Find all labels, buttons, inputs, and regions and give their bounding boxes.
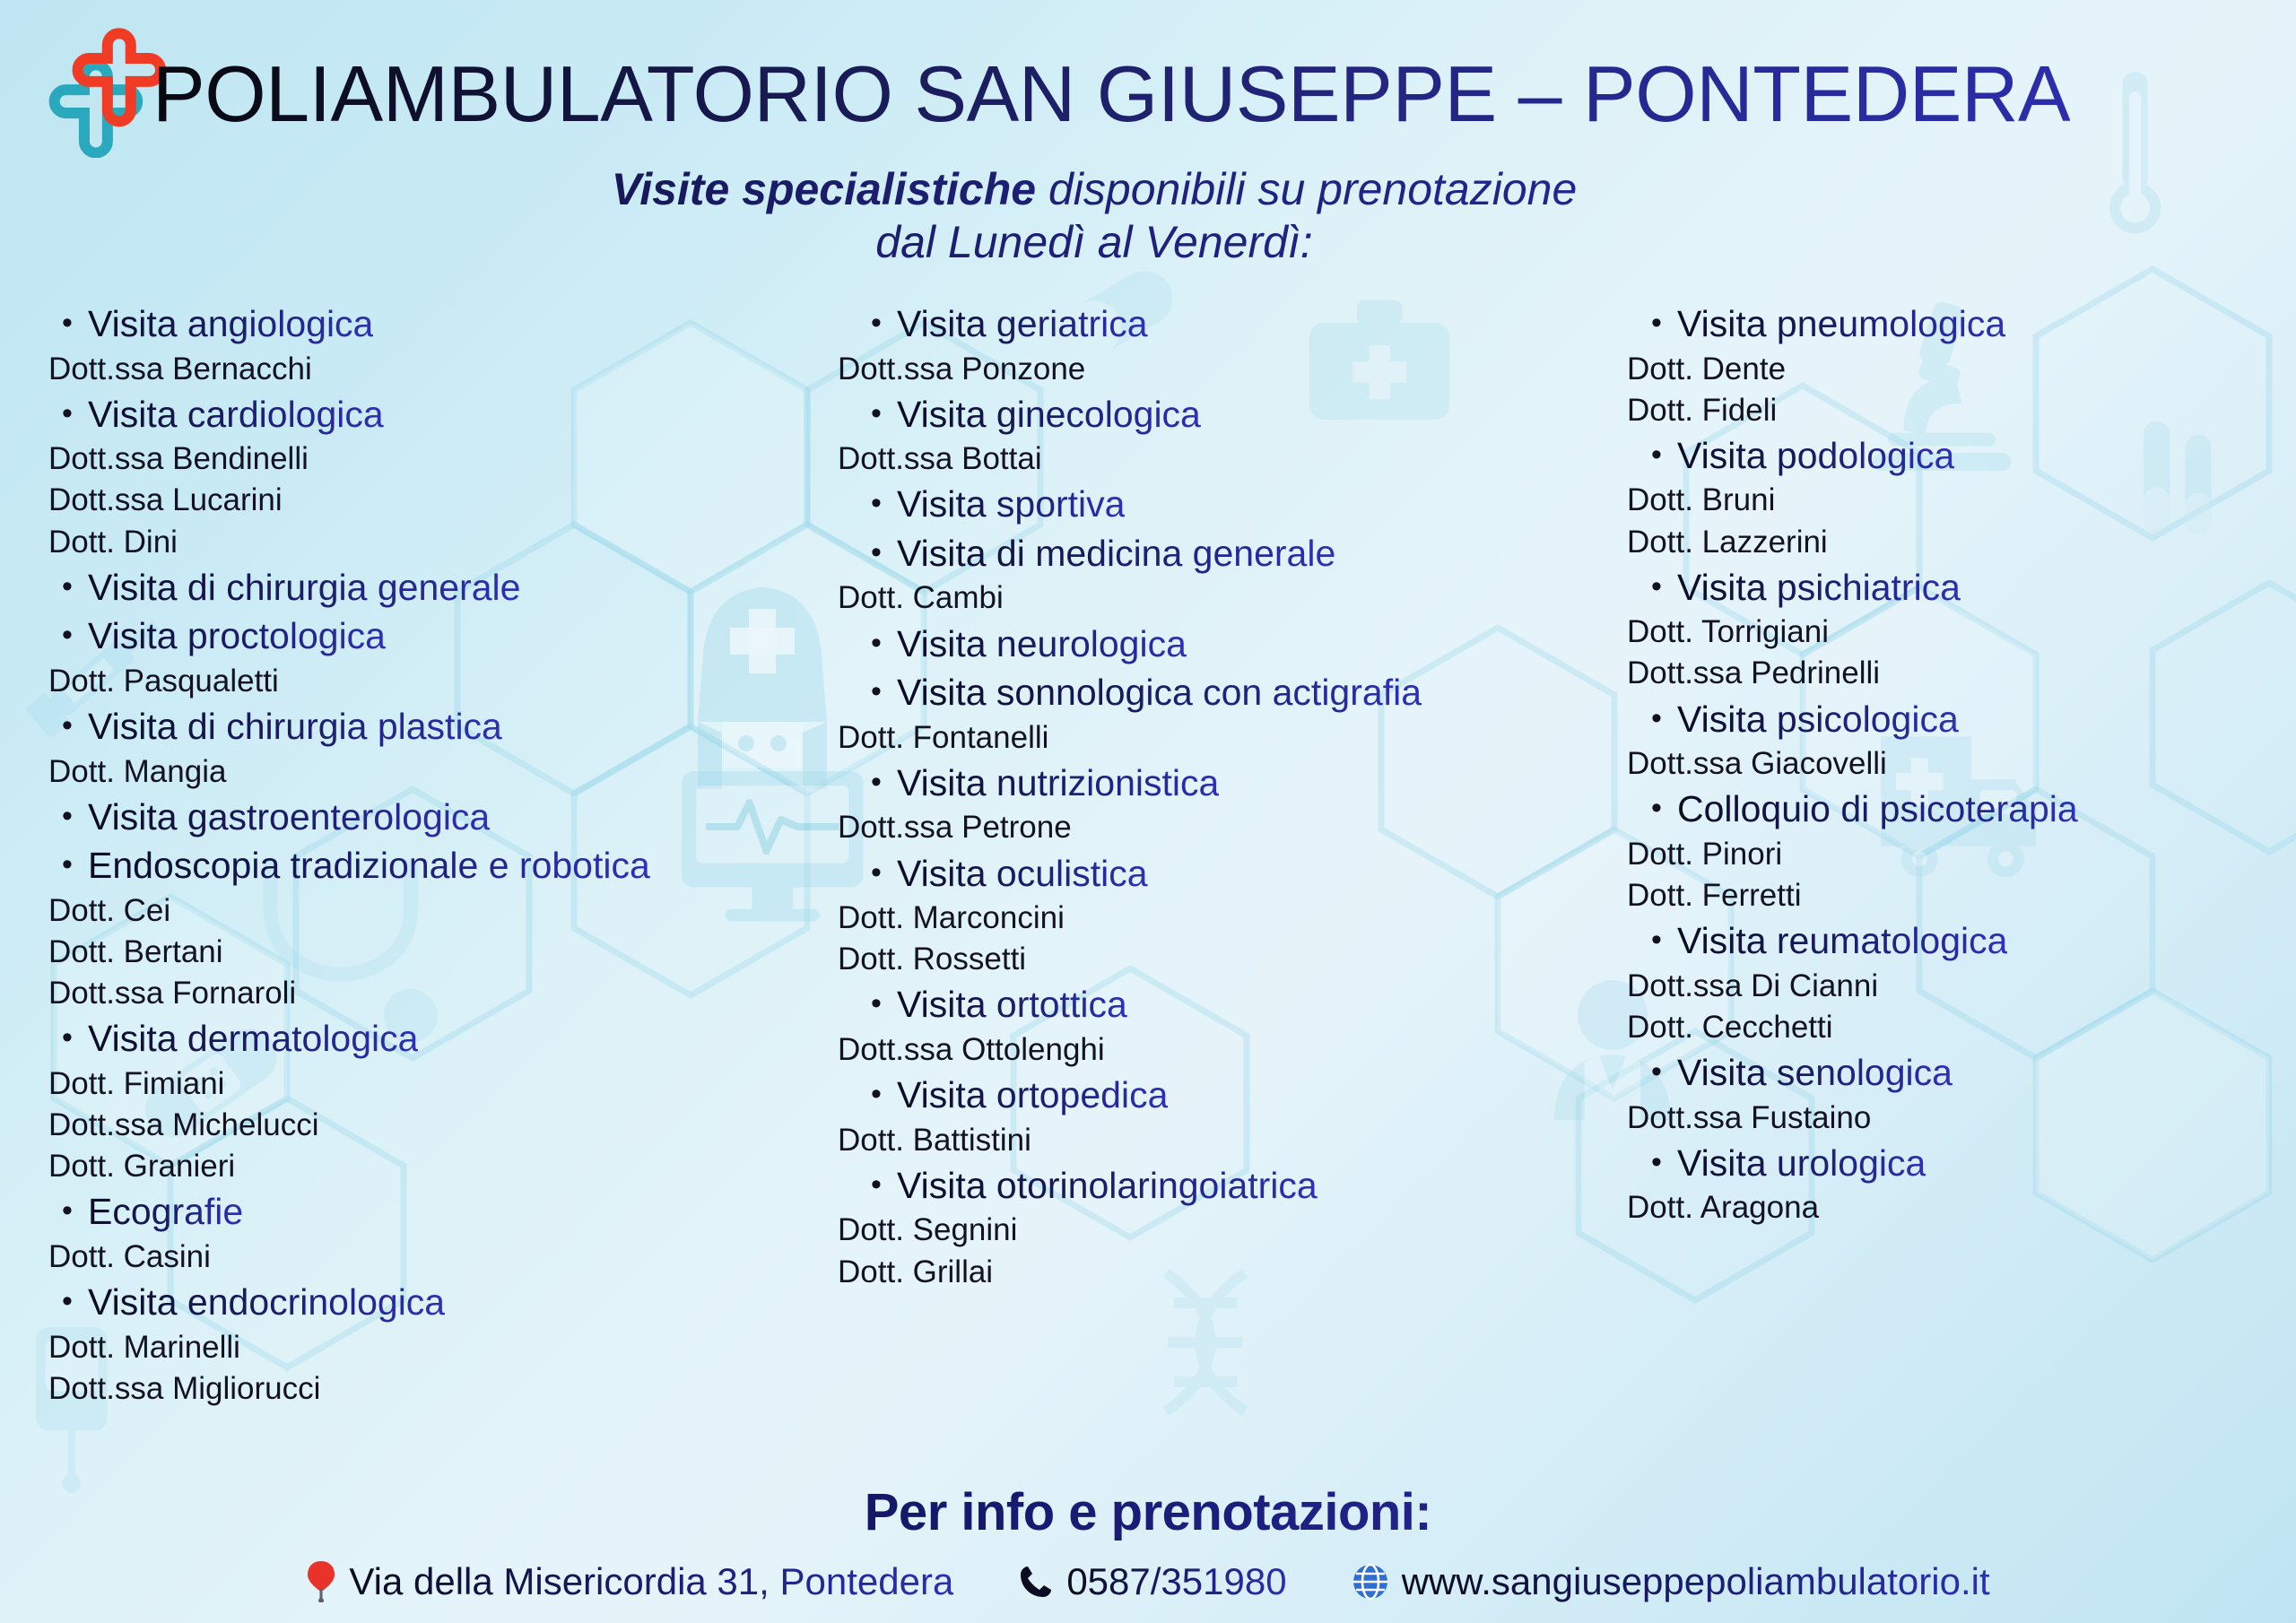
poster-header: POLIAMBULATORIO SAN GIUSEPPE – PONTEDERA bbox=[0, 0, 2296, 158]
doctor-name: Dott. Cambi bbox=[836, 577, 1625, 619]
service-item[interactable]: Visita angiologica bbox=[47, 299, 836, 349]
doctor-name: Dott. Fimiani bbox=[47, 1063, 836, 1105]
location-pin-icon bbox=[306, 1561, 336, 1602]
doctor-name: Dott.ssa Michelucci bbox=[47, 1105, 836, 1146]
doctor-name: Dott.ssa Bendinelli bbox=[47, 438, 836, 480]
bullet-icon bbox=[856, 984, 897, 1024]
service-label: Visita nutrizionistica bbox=[897, 759, 1219, 808]
doctor-name: Dott. Granieri bbox=[47, 1146, 836, 1187]
service-item[interactable]: Visita urologica bbox=[1625, 1139, 2253, 1188]
bullet-icon bbox=[856, 1165, 897, 1205]
doctor-name: Dott.ssa Giacovelli bbox=[1625, 743, 2253, 785]
service-item[interactable]: Ecografie bbox=[47, 1187, 836, 1237]
service-item[interactable]: Visita dermatologica bbox=[47, 1014, 836, 1063]
doctor-name: Dott.ssa Ottolenghi bbox=[836, 1029, 1625, 1071]
service-item[interactable]: Visita di chirurgia generale bbox=[47, 563, 836, 612]
service-label: Visita urologica bbox=[1677, 1139, 1926, 1188]
doctor-name: Dott. Rossetti bbox=[836, 939, 1625, 980]
doctor-name: Dott.ssa Bernacchi bbox=[47, 349, 836, 390]
doctor-name: Dott. Segnini bbox=[836, 1210, 1625, 1251]
doctor-name: Dott. Marconcini bbox=[836, 898, 1625, 939]
bullet-icon bbox=[856, 533, 897, 573]
service-item[interactable]: Visita ortopedica bbox=[836, 1071, 1625, 1120]
doctor-name: Dott.ssa Ponzone bbox=[836, 349, 1625, 390]
bullet-icon bbox=[856, 853, 897, 893]
bullet-icon bbox=[47, 1191, 88, 1231]
doctor-name: Dott. Aragona bbox=[1625, 1187, 2253, 1228]
doctor-name: Dott. Grillai bbox=[836, 1252, 1625, 1293]
service-label: Colloquio di psicoterapia bbox=[1677, 785, 2078, 834]
service-label: Visita ortottica bbox=[897, 980, 1127, 1029]
doctor-name: Dott.ssa Pedrinelli bbox=[1625, 653, 2253, 694]
contact-text: Via della Misericordia 31, Pontedera bbox=[349, 1560, 953, 1603]
doctor-name: Dott. Dini bbox=[47, 522, 836, 563]
service-item[interactable]: Visita gastroenterologica bbox=[47, 793, 836, 842]
bullet-icon bbox=[47, 845, 88, 885]
service-item[interactable]: Visita oculistica bbox=[836, 849, 1625, 898]
service-item[interactable]: Visita di chirurgia plastica bbox=[47, 702, 836, 751]
doctor-name: Dott. Cei bbox=[47, 890, 836, 932]
subtitle-emphasis: Visite specialistiche bbox=[612, 164, 1036, 214]
page-title: POLIAMBULATORIO SAN GIUSEPPE – PONTEDERA bbox=[152, 55, 2070, 134]
doctor-name: Dott. Lazzerini bbox=[1625, 522, 2253, 563]
service-label: Visita endocrinologica bbox=[88, 1278, 445, 1327]
doctor-name: Dott. Casini bbox=[47, 1237, 836, 1278]
bullet-icon bbox=[1636, 1052, 1677, 1092]
service-item[interactable]: Visita ortottica bbox=[836, 980, 1625, 1029]
doctor-name: Dott. Battistini bbox=[836, 1120, 1625, 1161]
doctor-name: Dott. Pinori bbox=[1625, 834, 2253, 875]
phone-icon bbox=[1018, 1564, 1054, 1600]
bullet-icon bbox=[856, 672, 897, 712]
doctor-name: Dott. Fideli bbox=[1625, 390, 2253, 431]
service-item[interactable]: Visita di medicina generale bbox=[836, 529, 1625, 578]
bullet-icon bbox=[856, 1074, 897, 1115]
bullet-icon bbox=[856, 623, 897, 664]
bullet-icon bbox=[47, 796, 88, 837]
service-label: Visita senologica bbox=[1677, 1048, 1952, 1098]
doctor-name: Dott.ssa Migliorucci bbox=[47, 1368, 836, 1410]
doctor-name: Dott. Bruni bbox=[1625, 480, 2253, 521]
service-item[interactable]: Visita psichiatrica bbox=[1625, 563, 2253, 612]
poster-root: POLIAMBULATORIO SAN GIUSEPPE – PONTEDERA… bbox=[0, 0, 2296, 1623]
bullet-icon bbox=[1636, 435, 1677, 475]
subtitle-block: Visite specialistiche disponibili su pre… bbox=[0, 163, 2296, 269]
service-item[interactable]: Colloquio di psicoterapia bbox=[1625, 785, 2253, 834]
contact-text: www.sangiuseppepoliambulatorio.it bbox=[1402, 1560, 1990, 1603]
service-label: Endoscopia tradizionale e robotica bbox=[88, 841, 650, 890]
service-label: Visita reumatologica bbox=[1677, 916, 2007, 966]
subtitle-rest: disponibili su prenotazione bbox=[1036, 164, 1577, 214]
bullet-icon bbox=[47, 1018, 88, 1058]
service-label: Visita oculistica bbox=[897, 849, 1148, 898]
bullet-icon bbox=[47, 303, 88, 343]
service-label: Visita proctologica bbox=[88, 612, 386, 661]
doctor-name: Dott.ssa Fustaino bbox=[1625, 1098, 2253, 1139]
service-item[interactable]: Visita proctologica bbox=[47, 612, 836, 661]
service-item[interactable]: Visita geriatrica bbox=[836, 299, 1625, 349]
bullet-icon bbox=[1636, 920, 1677, 960]
service-label: Visita cardiologica bbox=[88, 390, 384, 439]
bullet-icon bbox=[856, 303, 897, 343]
doctor-name: Dott.ssa Lucarini bbox=[47, 480, 836, 521]
poster-footer: Per info e prenotazioni: Via della Miser… bbox=[0, 1482, 2296, 1603]
bullet-icon bbox=[47, 615, 88, 655]
subtitle-line-2: dal Lunedì al Venerdì: bbox=[0, 216, 2188, 269]
doctor-name: Dott. Bertani bbox=[47, 932, 836, 973]
service-label: Visita gastroenterologica bbox=[88, 793, 490, 842]
service-item[interactable]: Visita reumatologica bbox=[1625, 916, 2253, 966]
contact-item[interactable]: www.sangiuseppepoliambulatorio.it bbox=[1352, 1560, 1990, 1603]
service-label: Visita angiologica bbox=[88, 299, 373, 349]
service-label: Visita sportiva bbox=[897, 480, 1125, 529]
service-item[interactable]: Visita cardiologica bbox=[47, 390, 836, 439]
bullet-icon bbox=[1636, 788, 1677, 829]
service-item[interactable]: Endoscopia tradizionale e robotica bbox=[47, 841, 836, 890]
doctor-name: Dott. Cecchetti bbox=[1625, 1007, 2253, 1048]
doctor-name: Dott. Torrigiani bbox=[1625, 612, 2253, 653]
service-item[interactable]: Visita nutrizionistica bbox=[836, 759, 1625, 808]
globe-icon bbox=[1352, 1563, 1389, 1601]
service-item[interactable]: Visita senologica bbox=[1625, 1048, 2253, 1098]
bullet-icon bbox=[856, 394, 897, 434]
service-label: Visita neurologica bbox=[897, 620, 1187, 669]
service-label: Visita otorinolaringoiatrica bbox=[897, 1161, 1318, 1211]
bullet-icon bbox=[1636, 303, 1677, 343]
service-item[interactable]: Visita ginecologica bbox=[836, 390, 1625, 439]
doctor-name: Dott.ssa Di Cianni bbox=[1625, 966, 2253, 1007]
service-label: Visita podologica bbox=[1677, 431, 1954, 481]
service-item[interactable]: Visita pneumologica bbox=[1625, 299, 2253, 349]
service-label: Visita geriatrica bbox=[897, 299, 1148, 349]
service-item[interactable]: Visita sonnologica con actigrafia bbox=[836, 668, 1625, 717]
subtitle-line-1: Visite specialistiche disponibili su pre… bbox=[0, 163, 2188, 216]
bullet-icon bbox=[47, 706, 88, 746]
doctor-name: Dott. Mangia bbox=[47, 751, 836, 793]
services-column-3: Visita pneumologicaDott. DenteDott. Fide… bbox=[1625, 299, 2253, 1229]
service-label: Visita di medicina generale bbox=[897, 529, 1335, 578]
service-label: Visita psicologica bbox=[1677, 695, 1959, 744]
doctor-name: Dott. Marinelli bbox=[47, 1327, 836, 1368]
doctor-name: Dott.ssa Bottai bbox=[836, 438, 1625, 480]
service-label: Visita ginecologica bbox=[897, 390, 1201, 439]
service-label: Visita di chirurgia generale bbox=[88, 563, 520, 612]
service-label: Visita ortopedica bbox=[897, 1071, 1168, 1120]
contact-text: 0587/351980 bbox=[1066, 1560, 1286, 1603]
service-label: Visita dermatologica bbox=[88, 1014, 418, 1063]
doctor-name: Dott.ssa Petrone bbox=[836, 807, 1625, 848]
service-item[interactable]: Visita sportiva bbox=[836, 480, 1625, 529]
bullet-icon bbox=[47, 1281, 88, 1322]
services-column-1: Visita angiologicaDott.ssa BernacchiVisi… bbox=[47, 299, 836, 1410]
service-label: Visita sonnologica con actigrafia bbox=[897, 668, 1422, 717]
doctor-name: Dott. Pasqualetti bbox=[47, 661, 836, 702]
service-item[interactable]: Visita podologica bbox=[1625, 431, 2253, 481]
service-label: Visita pneumologica bbox=[1677, 299, 2005, 349]
bullet-icon bbox=[856, 762, 897, 803]
bullet-icon bbox=[1636, 1142, 1677, 1183]
service-item[interactable]: Visita endocrinologica bbox=[47, 1278, 836, 1327]
bullet-icon bbox=[47, 567, 88, 607]
service-item[interactable]: Visita neurologica bbox=[836, 620, 1625, 669]
doctor-name: Dott.ssa Fornaroli bbox=[47, 973, 836, 1014]
doctor-name: Dott. Ferretti bbox=[1625, 875, 2253, 916]
bullet-icon bbox=[1636, 699, 1677, 739]
footer-heading: Per info e prenotazioni: bbox=[0, 1482, 2296, 1542]
bullet-icon bbox=[47, 394, 88, 434]
doctor-name: Dott. Dente bbox=[1625, 349, 2253, 390]
service-item[interactable]: Visita psicologica bbox=[1625, 695, 2253, 744]
contact-item[interactable]: 0587/351980 bbox=[1018, 1560, 1286, 1603]
service-label: Visita psichiatrica bbox=[1677, 563, 1961, 612]
services-column-2: Visita geriatricaDott.ssa PonzoneVisita … bbox=[836, 299, 1625, 1293]
service-label: Visita di chirurgia plastica bbox=[88, 702, 502, 751]
services-columns: Visita angiologicaDott.ssa BernacchiVisi… bbox=[0, 299, 2296, 1410]
service-item[interactable]: Visita otorinolaringoiatrica bbox=[836, 1161, 1625, 1211]
service-label: Ecografie bbox=[88, 1187, 243, 1237]
contact-row: Via della Misericordia 31, Pontedera0587… bbox=[0, 1560, 2296, 1603]
doctor-name: Dott. Fontanelli bbox=[836, 717, 1625, 759]
contact-item[interactable]: Via della Misericordia 31, Pontedera bbox=[306, 1560, 953, 1603]
bullet-icon bbox=[856, 483, 897, 524]
bullet-icon bbox=[1636, 567, 1677, 607]
